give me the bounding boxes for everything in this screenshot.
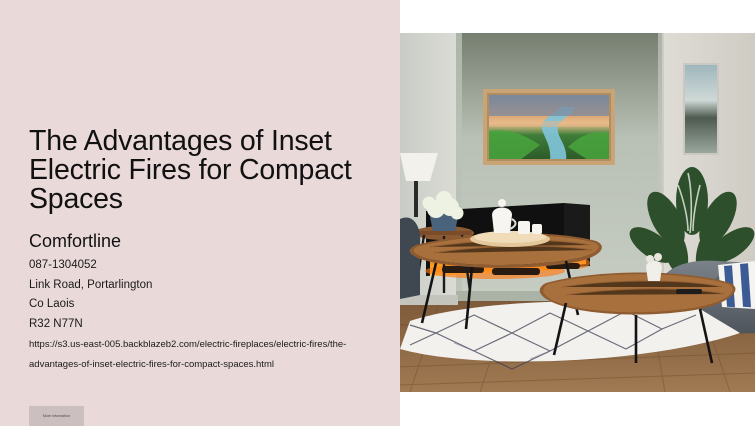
brand-name: Comfortline <box>29 230 121 252</box>
article-url[interactable]: https://s3.us-east-005.backblazeb2.com/e… <box>29 335 351 374</box>
page-root: The Advantages of Inset Electric Fires f… <box>0 0 755 426</box>
page-title: The Advantages of Inset Electric Fires f… <box>29 127 389 214</box>
contact-street: Link Road, Portarlington <box>29 276 374 296</box>
more-information-button[interactable]: More information <box>29 406 84 426</box>
contact-postcode: R32 N77N <box>29 315 374 335</box>
contact-details: 087-1304052 Link Road, Portarlington Co … <box>29 256 374 334</box>
contact-phone: 087-1304052 <box>29 256 374 276</box>
info-panel: The Advantages of Inset Electric Fires f… <box>0 0 400 426</box>
contact-county: Co Laois <box>29 295 374 315</box>
living-room-photo <box>400 33 755 392</box>
